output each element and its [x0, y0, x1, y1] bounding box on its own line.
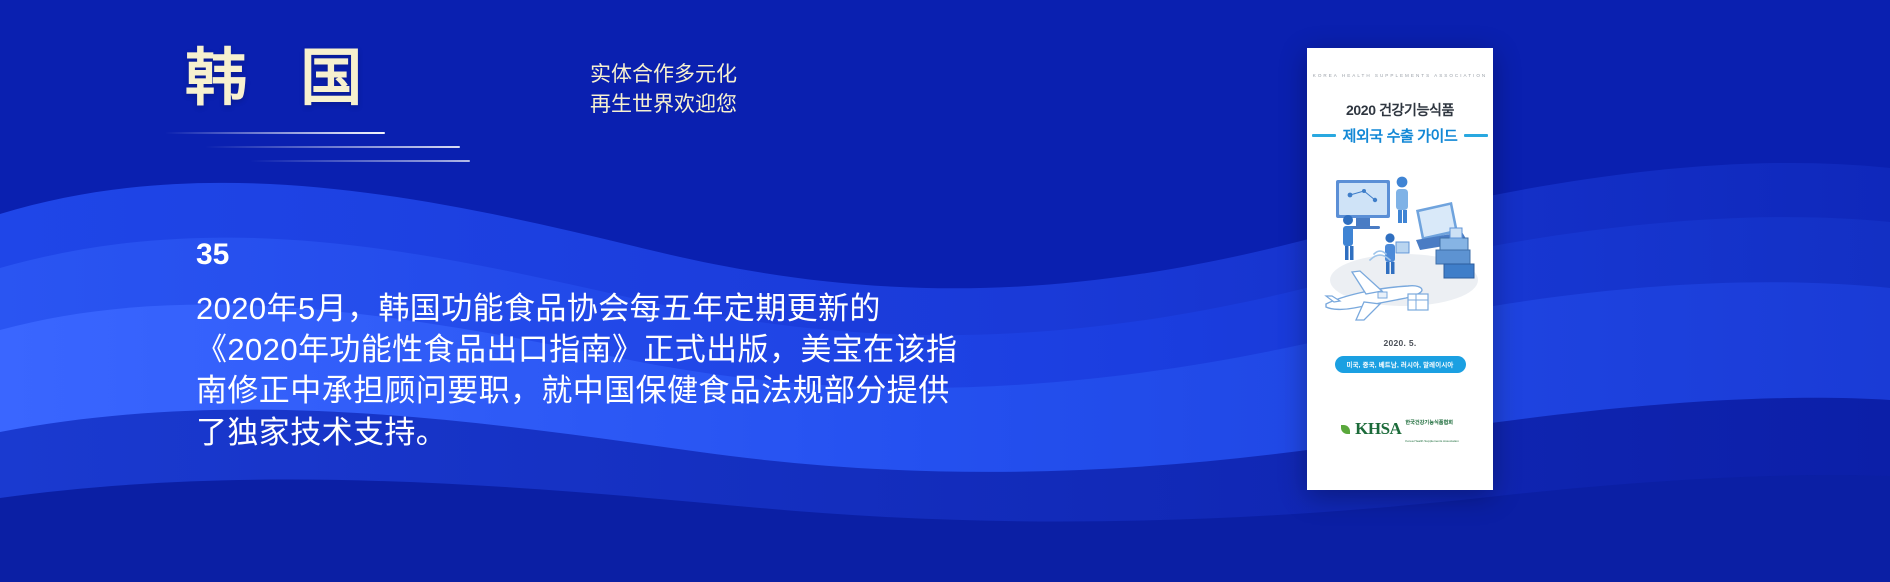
brochure-cover-image: Korea Health Supplements Association 202… — [1307, 48, 1493, 490]
khsa-logo-name-en: Korea Health Supplements Association — [1405, 439, 1459, 443]
brochure-illustration — [1312, 154, 1488, 334]
brochure-subtitle: 제외국 수출 가이드 — [1343, 125, 1458, 146]
khsa-logo: KHSA 한국건강기능식품협회 Korea Health Supplements… — [1307, 411, 1493, 448]
paragraph-line: 南修正中承担顾问要职，就中国保健食品法规部分提供 — [196, 370, 1096, 411]
title-rule-2 — [205, 146, 460, 148]
item-number: 35 — [196, 240, 229, 270]
khsa-logo-name-kr: 한국건강기능식품협회 — [1405, 420, 1453, 426]
paragraph-line: 2020年5月，韩国功能食品协会每五年定期更新的 — [196, 288, 1096, 329]
brochure-title: 2020 건강기능식품 — [1307, 100, 1493, 120]
brochure-date: 2020. 5. — [1307, 338, 1493, 348]
paragraph-line: 了独家技术支持。 — [196, 412, 1096, 453]
page-title: 韩 国 — [185, 48, 605, 110]
subtitle: 实体合作多元化 再生世界欢迎您 — [590, 60, 737, 121]
dash-right-icon — [1464, 134, 1488, 137]
title-rule-1 — [165, 132, 385, 134]
khsa-logo-mark: KHSA — [1355, 419, 1401, 439]
title-rule-3 — [250, 160, 470, 162]
brochure-badge-row: 미국, 중국, 베트남, 러시아, 말레이시아 — [1307, 356, 1493, 373]
dash-left-icon — [1312, 134, 1336, 137]
subtitle-line-1: 实体合作多元化 — [590, 60, 737, 90]
body-paragraph: 2020年5月，韩国功能食品协会每五年定期更新的 《2020年功能性食品出口指南… — [196, 288, 1096, 453]
title-block: 韩 国 — [185, 48, 605, 110]
leaf-icon — [1341, 425, 1350, 434]
subtitle-line-2: 再生世界欢迎您 — [590, 90, 737, 120]
slide-root: 韩 国 实体合作多元化 再生世界欢迎您 35 2020年5月，韩国功能食品协会每… — [0, 0, 1890, 582]
brochure-association-line: Korea Health Supplements Association — [1307, 73, 1493, 78]
brochure-countries-badge: 미국, 중국, 베트남, 러시아, 말레이시아 — [1335, 356, 1466, 373]
khsa-logo-text: 한국건강기능식품협회 Korea Health Supplements Asso… — [1405, 411, 1459, 448]
title-underline-decoration — [165, 132, 585, 172]
brochure-subtitle-row: 제외국 수출 가이드 — [1307, 125, 1493, 146]
paragraph-line: 《2020年功能性食品出口指南》正式出版，美宝在该指 — [196, 329, 1096, 370]
